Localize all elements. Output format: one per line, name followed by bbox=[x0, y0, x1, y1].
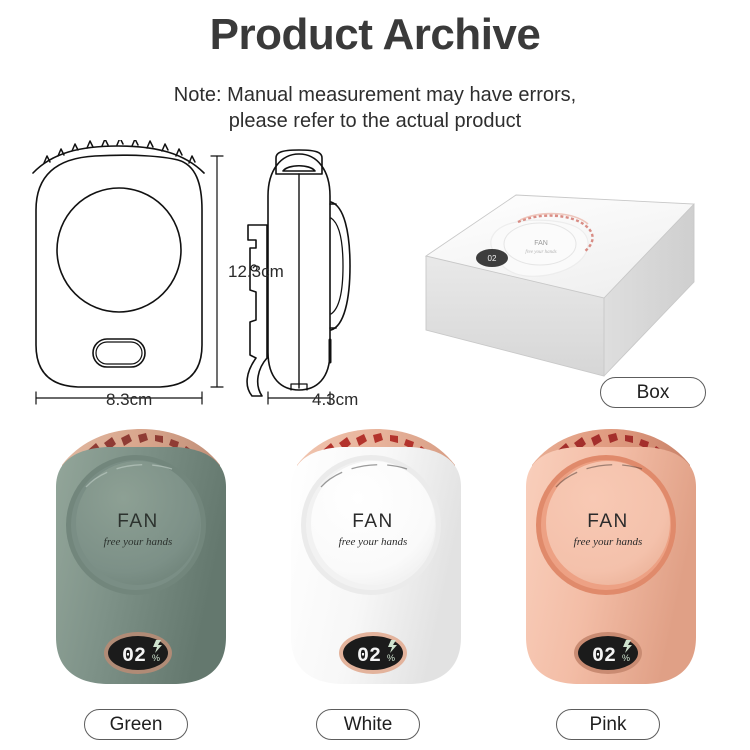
box-artwork-brand-text: FAN bbox=[534, 240, 548, 247]
led-display-unit: % bbox=[622, 653, 630, 663]
badge-box-label: Box bbox=[637, 382, 670, 404]
front-view-fan-circle bbox=[57, 188, 181, 312]
fan-illustration-pink: FAN free your hands 02 % bbox=[516, 425, 706, 693]
led-display-value: 02 bbox=[122, 645, 146, 668]
fan-tagline-text: free your hands bbox=[574, 536, 643, 548]
badge-box: Box bbox=[600, 377, 706, 408]
measurement-note: Note: Manual measurement may have errors… bbox=[0, 82, 750, 134]
note-line-2: please refer to the actual product bbox=[0, 108, 750, 134]
side-view-clip bbox=[247, 225, 267, 396]
fan-tagline-text: free your hands bbox=[104, 536, 173, 548]
fan-brand-text: FAN bbox=[352, 511, 393, 532]
badge-variant-white: White bbox=[316, 709, 420, 740]
box-artwork-tagline-text: free your hands bbox=[525, 250, 556, 255]
product-variant-white[interactable]: FAN free your hands 02 % bbox=[281, 425, 471, 693]
packaging-box: 02 FAN free your hands bbox=[420, 190, 705, 385]
dimension-height-label: 12.3cm bbox=[228, 262, 284, 282]
fan-tagline-text: free your hands bbox=[339, 536, 408, 548]
led-display-unit: % bbox=[152, 653, 160, 663]
led-display-value: 02 bbox=[592, 645, 616, 668]
product-variant-pink[interactable]: FAN free your hands 02 % bbox=[516, 425, 706, 693]
badge-variant-pink: Pink bbox=[556, 709, 660, 740]
badge-variant-pink-label: Pink bbox=[590, 714, 627, 736]
product-variant-green[interactable]: FAN free your hands 02 % bbox=[46, 425, 236, 693]
fan-illustration-white: FAN free your hands 02 % bbox=[281, 425, 471, 693]
product-variants-row: FAN free your hands 02 % bbox=[0, 425, 750, 700]
led-display-unit: % bbox=[387, 653, 395, 663]
front-view-button-inner bbox=[96, 342, 142, 364]
led-display-value: 02 bbox=[357, 645, 381, 668]
badge-variant-white-label: White bbox=[344, 714, 393, 736]
page-title: Product Archive bbox=[0, 10, 750, 60]
badge-variant-green-label: Green bbox=[110, 714, 163, 736]
spec-line-drawing bbox=[0, 140, 420, 420]
packaging-box-illustration: 02 FAN free your hands bbox=[420, 190, 705, 385]
fan-illustration-green: FAN free your hands 02 % bbox=[46, 425, 236, 693]
fan-brand-text: FAN bbox=[587, 511, 628, 532]
note-line-1: Note: Manual measurement may have errors… bbox=[0, 82, 750, 108]
dimension-lines bbox=[36, 156, 330, 404]
dimension-width-side-label: 4.3cm bbox=[312, 390, 358, 410]
dimension-width-front-label: 8.3cm bbox=[106, 390, 152, 410]
side-view-top-slot bbox=[283, 166, 315, 171]
badge-variant-green: Green bbox=[84, 709, 188, 740]
fan-brand-text: FAN bbox=[117, 511, 158, 532]
side-view-strap-inner bbox=[331, 218, 343, 314]
box-artwork-display-text: 02 bbox=[488, 254, 497, 263]
